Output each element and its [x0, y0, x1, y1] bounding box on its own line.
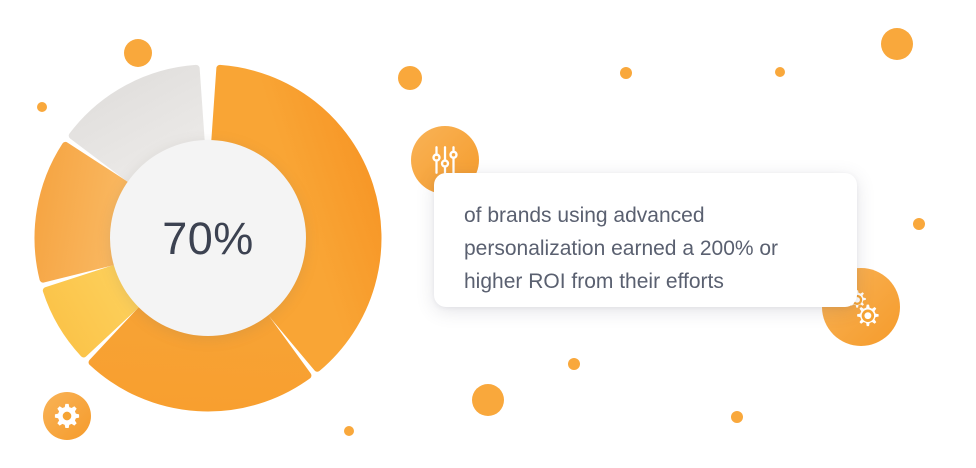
decorative-dot: [124, 39, 152, 67]
gear-icon: [53, 402, 81, 430]
decorative-dot: [731, 411, 743, 423]
decorative-dot: [472, 384, 504, 416]
infographic-stage: 70%: [0, 0, 976, 468]
decorative-dot: [620, 67, 632, 79]
stat-card: of brands using advanced personalization…: [434, 173, 857, 307]
donut-chart: 70%: [38, 68, 378, 408]
sliders-icon: [428, 143, 462, 177]
decorative-dot: [568, 358, 580, 370]
decorative-dot: [775, 67, 785, 77]
decorative-dot: [344, 426, 354, 436]
decorative-dot: [881, 28, 913, 60]
donut-center: 70%: [110, 140, 306, 336]
donut-center-value: 70%: [162, 216, 254, 261]
decorative-dot: [913, 218, 925, 230]
gear-icon-badge: [43, 392, 91, 440]
decorative-dot: [398, 66, 422, 90]
stat-card-text: of brands using advanced personalization…: [464, 199, 827, 298]
